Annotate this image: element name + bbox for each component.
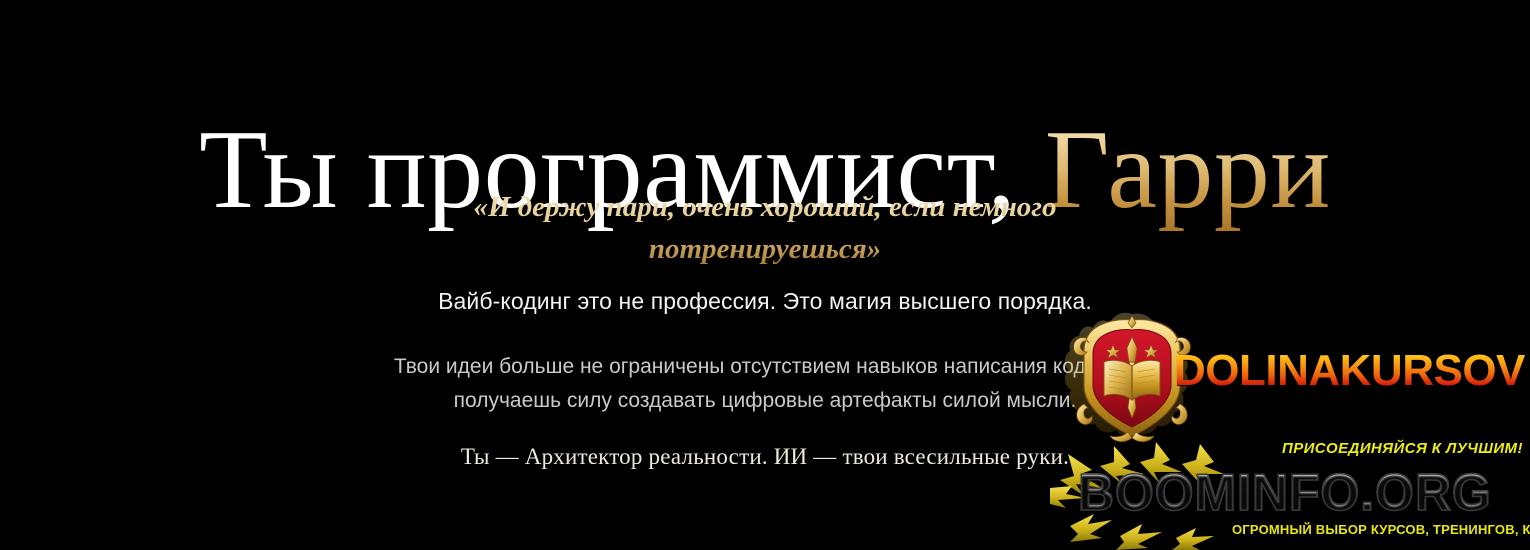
hero-subquote: «И держу пари, очень хороший, если немно…: [415, 186, 1115, 270]
page-root: Ты программист, Гарри «И держу пари, оче…: [0, 0, 1530, 550]
hero-closing-line: Ты — Архитектор реальности. ИИ — твои вс…: [0, 444, 1530, 470]
hero-lead-line: Вайб-кодинг это не профессия. Это магия …: [0, 288, 1530, 315]
hero-section: Ты программист, Гарри «И держу пари, оче…: [0, 0, 1530, 550]
hero-body-copy: Твои идеи больше не ограничены отсутстви…: [370, 350, 1160, 418]
